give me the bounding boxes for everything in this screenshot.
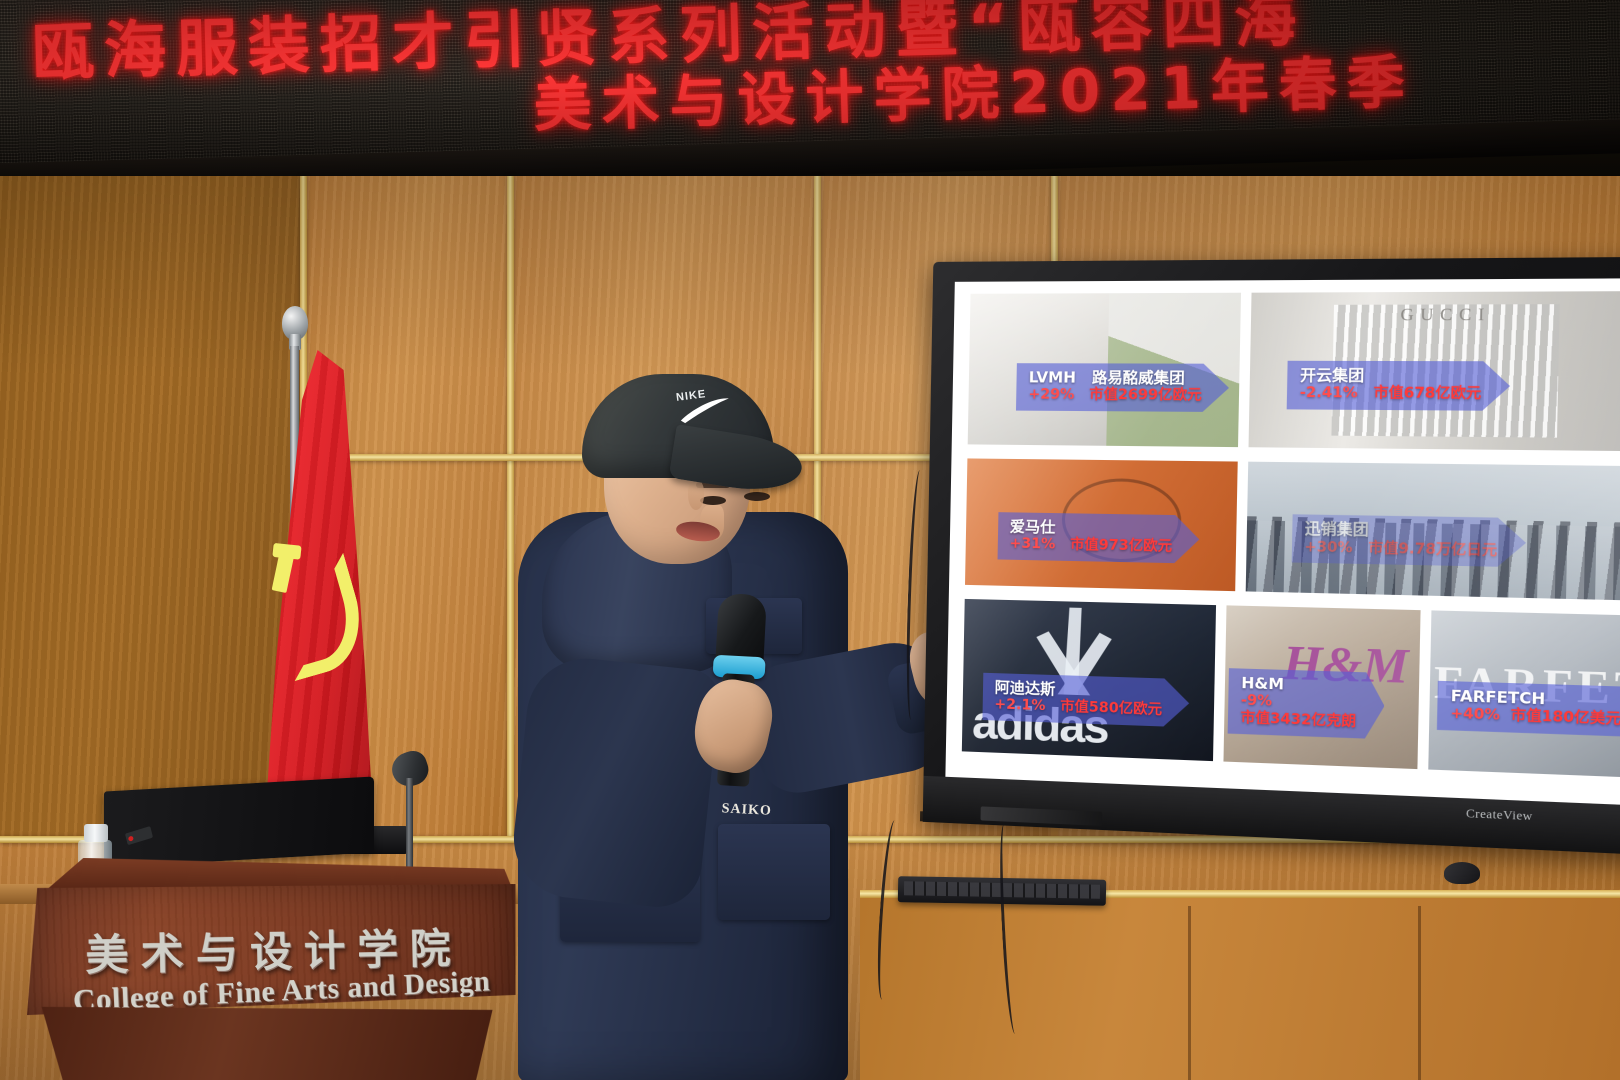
computer-mouse[interactable] xyxy=(1444,862,1480,884)
callout-kering-change: -2.41% xyxy=(1300,385,1358,402)
display-ports-icon xyxy=(980,806,1102,826)
thinkpad-laptop[interactable] xyxy=(104,776,374,867)
callout-lvmh: LVMH 路易酩威集团 +29% 市值2699亿欧元 xyxy=(1016,363,1230,412)
callout-uniqlo-cap: 市值9.78万亿日元 xyxy=(1368,540,1497,559)
lectern-podium: 美术与设计学院 College of Fine Arts and Design xyxy=(27,857,515,1080)
callout-kering-cap: 市值678亿欧元 xyxy=(1373,385,1481,402)
presentation-slide: LVMH 路易酩威集团 +29% 市值2699亿欧元 GUCCI xyxy=(945,278,1620,808)
lower-counter xyxy=(860,898,1620,1080)
callout-hm-change: -9% xyxy=(1241,692,1272,710)
callout-lvmh-change: +29% xyxy=(1028,387,1074,403)
eye-right xyxy=(744,492,770,501)
callout-hermes-cap: 市值973亿欧元 xyxy=(1070,537,1172,555)
slide-row-3: adidas 阿迪达斯 +2.1% 市值580亿欧元 H&M xyxy=(946,599,1620,779)
slide-cell-hermes: 爱马仕 +31% 市值973亿欧元 xyxy=(965,458,1238,591)
callout-kering: 开云集团 -2.41% 市值678亿欧元 xyxy=(1287,361,1511,411)
callout-lvmh-cap: 市值2699亿欧元 xyxy=(1089,387,1202,404)
callout-uniqlo-name: 迅销集团 xyxy=(1304,520,1369,540)
slide-row-1: LVMH 路易酩威集团 +29% 市值2699亿欧元 GUCCI xyxy=(952,291,1620,451)
callout-adidas-name: 阿迪达斯 xyxy=(995,678,1056,698)
gucci-logo-text: GUCCI xyxy=(1349,304,1544,325)
interactive-display[interactable]: LVMH 路易酩威集团 +29% 市值2699亿欧元 GUCCI xyxy=(923,257,1620,856)
callout-hermes-name: 爱马仕 xyxy=(1010,517,1056,536)
callout-uniqlo-change: +30% xyxy=(1304,539,1353,557)
callout-farfetch: FARFETCH +40% 市值180亿美元 xyxy=(1437,681,1620,738)
slide-cell-uniqlo: 迅销集团 +30% 市值9.78万亿日元 xyxy=(1246,462,1620,601)
callout-lvmh-name: 路易酩威集团 xyxy=(1092,368,1185,387)
jacket-pocket-right xyxy=(718,824,830,920)
laptop-logo-icon xyxy=(125,826,153,845)
slide-cell-farfetch: FARFETCH FARFETCH +40% 市值180亿美元 xyxy=(1428,610,1620,777)
mic-brand-text: SAIKO xyxy=(721,801,762,819)
callout-adidas: 阿迪达斯 +2.1% 市值580亿欧元 xyxy=(982,673,1190,728)
slide-cell-kering: GUCCI 开云集团 -2.41% 市值678亿欧元 xyxy=(1248,291,1620,451)
callout-hm-prefix: H&M xyxy=(1241,673,1284,693)
slide-cell-adidas: adidas 阿迪达斯 +2.1% 市值580亿欧元 xyxy=(962,599,1216,761)
callout-hermes-change: +31% xyxy=(1009,536,1055,553)
slide-cell-lvmh: LVMH 路易酩威集团 +29% 市值2699亿欧元 xyxy=(968,293,1241,447)
callout-lvmh-prefix: LVMH xyxy=(1029,368,1077,386)
callout-kering-name: 开云集团 xyxy=(1300,366,1364,385)
display-screen[interactable]: LVMH 路易酩威集团 +29% 市值2699亿欧元 GUCCI xyxy=(945,278,1620,808)
callout-farfetch-change: +40% xyxy=(1450,705,1500,723)
callout-farfetch-cap: 市值180亿美元 xyxy=(1510,707,1620,728)
arm-holding-mic xyxy=(508,653,722,912)
slide-row-2: 爱马仕 +31% 市值973亿欧元 迅销集团 xyxy=(949,458,1620,601)
photo-scene: 瓯海服装招才引贤系列活动暨“瓯容四海 美术与设计学院2021年春季 xyxy=(0,0,1620,1080)
callout-hm-cap: 市值3432亿克朗 xyxy=(1240,710,1356,731)
flag-finial xyxy=(282,306,308,340)
callout-adidas-change: +2.1% xyxy=(994,696,1045,714)
callout-hermes: 爱马仕 +31% 市值973亿欧元 xyxy=(997,512,1200,564)
hammer-and-sickle-icon xyxy=(272,542,342,660)
callout-uniqlo: 迅销集团 +30% 市值9.78万亿日元 xyxy=(1291,514,1526,567)
callout-hm: H&M -9% 市值3432亿克朗 xyxy=(1228,668,1386,739)
display-brand-text: CreateView xyxy=(1466,806,1533,825)
nose xyxy=(688,480,704,510)
led-scrolling-banner: 瓯海服装招才引贤系列活动暨“瓯容四海 美术与设计学院2021年春季 xyxy=(0,0,1620,182)
slide-cell-hm: H&M H&M -9% 市值3432亿克朗 xyxy=(1223,605,1420,769)
callout-adidas-cap: 市值580亿欧元 xyxy=(1060,699,1162,719)
